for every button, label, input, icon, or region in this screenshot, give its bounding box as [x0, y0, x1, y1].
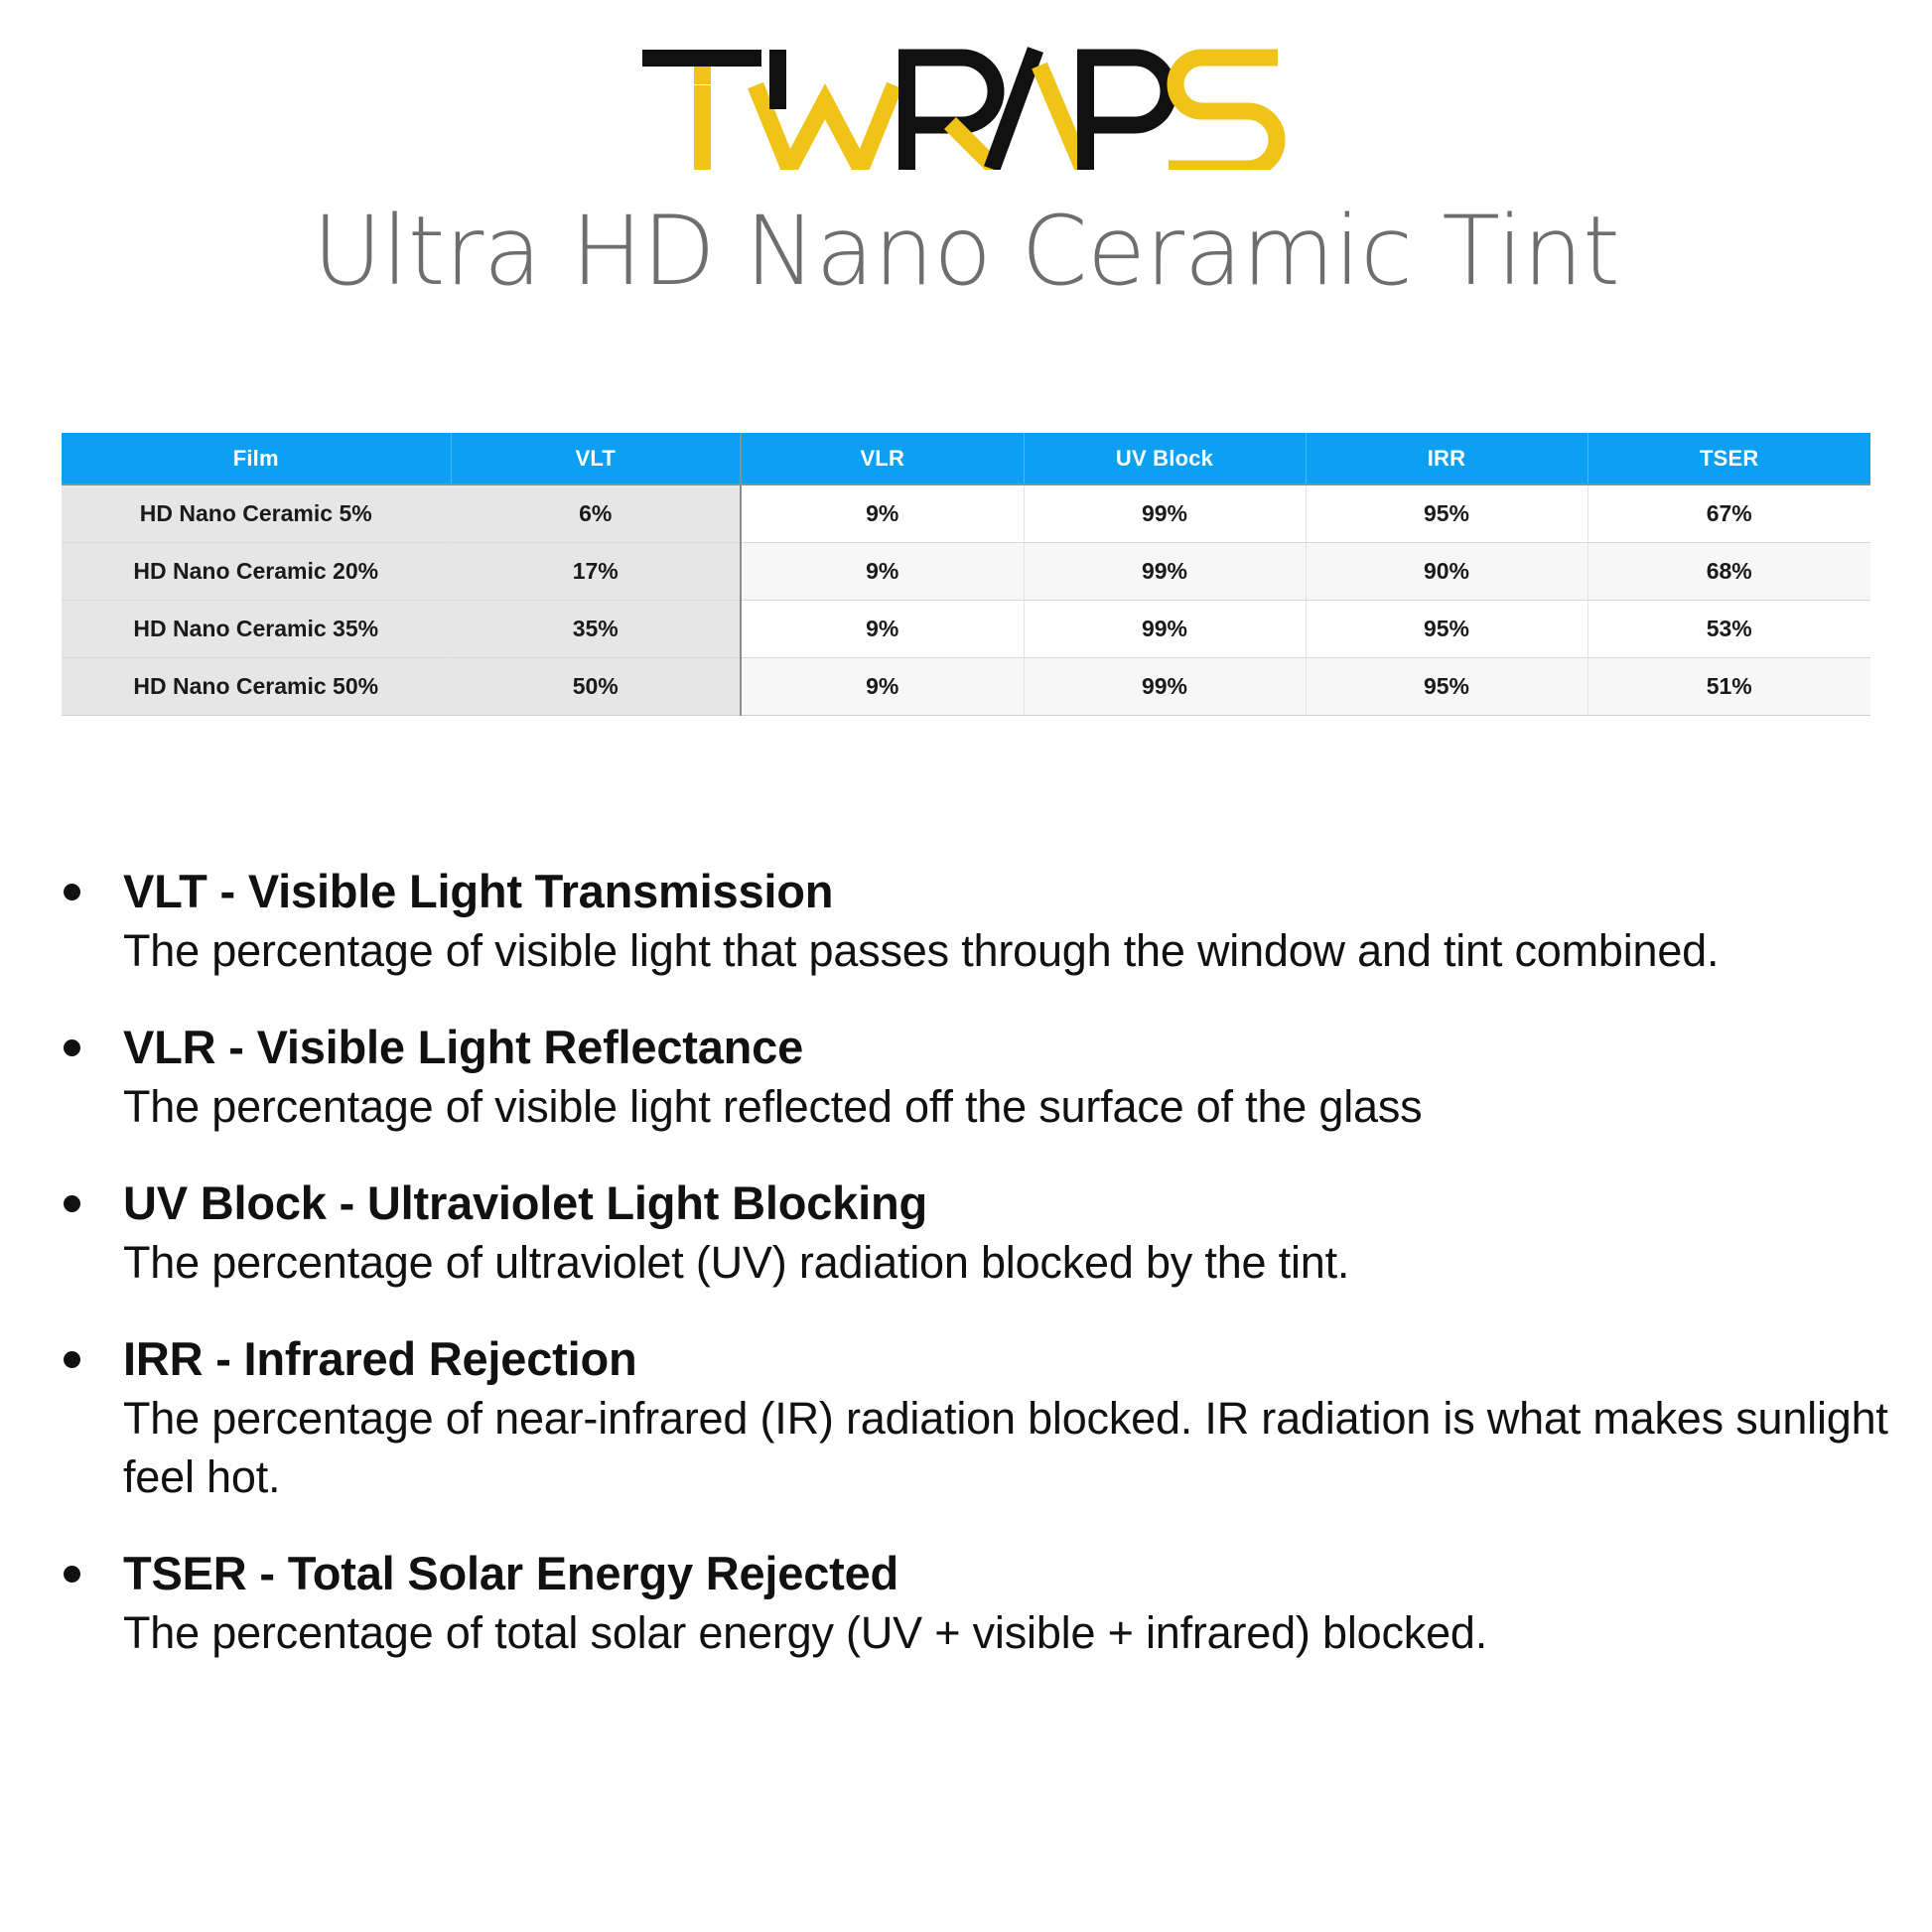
bullet-marker-icon — [52, 1173, 123, 1217]
column-header-vlt: VLT — [451, 433, 741, 484]
definition-term: UV Block - Ultraviolet Light Blocking — [123, 1173, 1898, 1233]
cell-irr: 95% — [1306, 484, 1587, 542]
table-row: HD Nano Ceramic 50% 50% 9% 99% 95% 51% — [62, 657, 1870, 715]
cell-uv: 99% — [1024, 600, 1306, 657]
definition-term: TSER - Total Solar Energy Rejected — [123, 1544, 1898, 1603]
bullet-marker-icon — [52, 1329, 123, 1373]
bullet-marker-icon — [52, 1018, 123, 1061]
definition-description: The percentage of total solar energy (UV… — [123, 1603, 1898, 1662]
definition-description: The percentage of near-infrared (IR) rad… — [123, 1389, 1898, 1506]
cell-irr: 90% — [1306, 542, 1587, 600]
cell-tser: 68% — [1587, 542, 1870, 600]
definition-body: VLT - Visible Light Transmission The per… — [123, 862, 1898, 980]
column-header-irr: IRR — [1306, 433, 1587, 484]
bullet-marker-icon — [52, 1544, 123, 1587]
column-header-film: Film — [62, 433, 451, 484]
table-row: HD Nano Ceramic 5% 6% 9% 99% 95% 67% — [62, 484, 1870, 542]
definition-body: IRR - Infrared Rejection The percentage … — [123, 1329, 1898, 1506]
cell-uv: 99% — [1024, 657, 1306, 715]
cell-vlr: 9% — [741, 600, 1024, 657]
cell-uv: 99% — [1024, 542, 1306, 600]
definition-description: The percentage of ultraviolet (UV) radia… — [123, 1233, 1898, 1292]
definition-body: TSER - Total Solar Energy Rejected The p… — [123, 1544, 1898, 1662]
cell-vlr: 9% — [741, 657, 1024, 715]
definition-body: VLR - Visible Light Reflectance The perc… — [123, 1018, 1898, 1136]
table-header-row: Film VLT VLR UV Block IRR TSER — [62, 433, 1870, 484]
cell-vlr: 9% — [741, 484, 1024, 542]
cell-vlt: 17% — [451, 542, 741, 600]
cell-film: HD Nano Ceramic 5% — [62, 484, 451, 542]
cell-uv: 99% — [1024, 484, 1306, 542]
cell-film: HD Nano Ceramic 35% — [62, 600, 451, 657]
cell-vlt: 50% — [451, 657, 741, 715]
definition-body: UV Block - Ultraviolet Light Blocking Th… — [123, 1173, 1898, 1292]
spec-sheet-page: Ultra HD Nano Ceramic Tint Film VLT VLR … — [0, 0, 1932, 1932]
cell-tser: 51% — [1587, 657, 1870, 715]
table-row: HD Nano Ceramic 35% 35% 9% 99% 95% 53% — [62, 600, 1870, 657]
column-header-uv-block: UV Block — [1024, 433, 1306, 484]
bullet-marker-icon — [52, 862, 123, 905]
list-item: TSER - Total Solar Energy Rejected The p… — [52, 1544, 1898, 1662]
definition-description: The percentage of visible light reflecte… — [123, 1077, 1898, 1136]
definition-term: VLT - Visible Light Transmission — [123, 862, 1898, 921]
cell-irr: 95% — [1306, 657, 1587, 715]
column-header-vlr: VLR — [741, 433, 1024, 484]
film-spec-table: Film VLT VLR UV Block IRR TSER HD Nano C… — [62, 433, 1870, 716]
cell-film: HD Nano Ceramic 20% — [62, 542, 451, 600]
table-row: HD Nano Ceramic 20% 17% 9% 99% 90% 68% — [62, 542, 1870, 600]
cell-vlt: 35% — [451, 600, 741, 657]
cell-tser: 53% — [1587, 600, 1870, 657]
definitions-list: VLT - Visible Light Transmission The per… — [52, 862, 1898, 1662]
cell-vlr: 9% — [741, 542, 1024, 600]
definition-term: IRR - Infrared Rejection — [123, 1329, 1898, 1389]
cell-irr: 95% — [1306, 600, 1587, 657]
table-body: HD Nano Ceramic 5% 6% 9% 99% 95% 67% HD … — [62, 484, 1870, 715]
list-item: UV Block - Ultraviolet Light Blocking Th… — [52, 1173, 1898, 1292]
list-item: VLT - Visible Light Transmission The per… — [52, 862, 1898, 980]
list-item: IRR - Infrared Rejection The percentage … — [52, 1329, 1898, 1506]
cell-tser: 67% — [1587, 484, 1870, 542]
brand-logo — [0, 46, 1932, 170]
table-header: Film VLT VLR UV Block IRR TSER — [62, 433, 1870, 484]
list-item: VLR - Visible Light Reflectance The perc… — [52, 1018, 1898, 1136]
column-header-tser: TSER — [1587, 433, 1870, 484]
twraps-logo-icon — [638, 46, 1294, 170]
cell-film: HD Nano Ceramic 50% — [62, 657, 451, 715]
page-title: Ultra HD Nano Ceramic Tint — [0, 197, 1932, 306]
definition-term: VLR - Visible Light Reflectance — [123, 1018, 1898, 1077]
cell-vlt: 6% — [451, 484, 741, 542]
definition-description: The percentage of visible light that pas… — [123, 921, 1898, 980]
